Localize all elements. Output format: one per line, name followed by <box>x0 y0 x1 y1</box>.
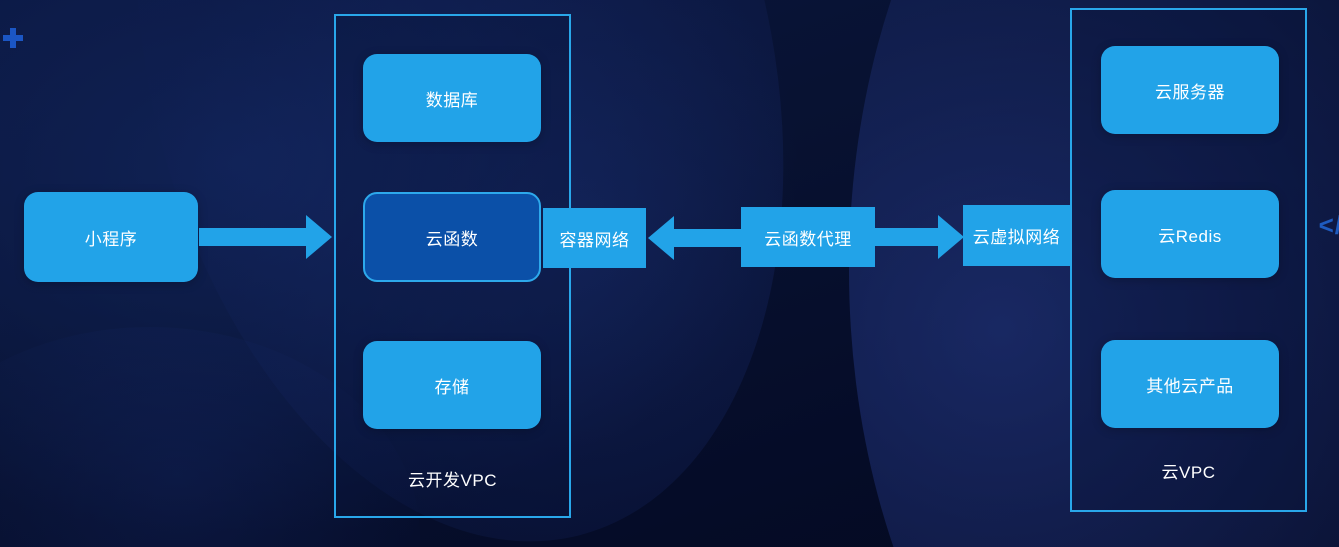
node-label: 云服务器 <box>1155 78 1225 103</box>
node-label: 云虚拟网络 <box>973 223 1061 248</box>
group-label-cloud-vpc: 云VPC <box>1070 458 1307 483</box>
node-cloud-server[interactable]: 云服务器 <box>1101 46 1279 134</box>
node-label: 其他云产品 <box>1146 372 1234 397</box>
arrow-proxy-to-container-network <box>648 216 743 260</box>
node-label: 云函数代理 <box>764 225 852 250</box>
arrow-proxy-to-cloud-virtual-network <box>875 215 965 259</box>
group-label-cloudbase-vpc: 云开发VPC <box>334 466 571 491</box>
plus-icon <box>3 28 23 48</box>
node-cloud-redis[interactable]: 云Redis <box>1101 190 1279 278</box>
node-container-network[interactable]: 容器网络 <box>543 208 646 268</box>
node-label: 容器网络 <box>560 226 630 251</box>
node-cloud-function[interactable]: 云函数 <box>363 192 541 282</box>
node-database[interactable]: 数据库 <box>363 54 541 142</box>
node-storage[interactable]: 存储 <box>363 341 541 429</box>
node-label: 存储 <box>435 373 470 398</box>
node-label: 云Redis <box>1158 222 1221 247</box>
node-label: 数据库 <box>426 86 479 111</box>
node-cloud-function-proxy[interactable]: 云函数代理 <box>741 207 875 267</box>
node-label: 云函数 <box>426 225 479 250</box>
node-other-cloud-products[interactable]: 其他云产品 <box>1101 340 1279 428</box>
diagram-canvas: </ 小程序 数据库 云函数 存储 云开发VPC 容器网络 云函数代理 云虚拟网… <box>0 0 1339 547</box>
node-mini-program[interactable]: 小程序 <box>24 192 198 282</box>
node-label: 小程序 <box>85 225 138 250</box>
arrow-client-to-vpc <box>199 215 333 259</box>
code-bracket-icon: </ <box>1319 210 1339 241</box>
node-cloud-virtual-network[interactable]: 云虚拟网络 <box>963 205 1070 266</box>
